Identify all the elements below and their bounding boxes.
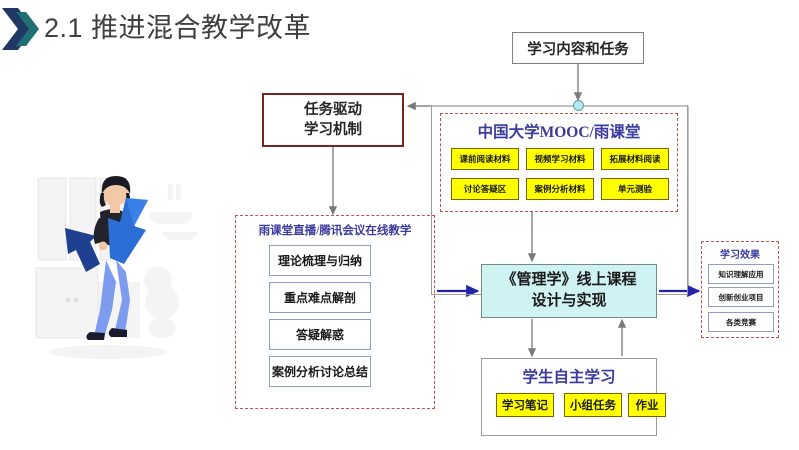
chip-innovation-projects[interactable]: 创新创业项目 <box>708 287 774 307</box>
node-label-line2: 学习机制 <box>304 120 362 140</box>
chip-video-materials[interactable]: 视频学习材料 <box>526 148 594 170</box>
chip-case-discussion-summary[interactable]: 案例分析讨论总结 <box>269 356 371 387</box>
panel-learning-outcomes: 学习效果 知识理解应用 创新创业项目 各类竞赛 <box>701 241 779 338</box>
chip-key-difficult-points[interactable]: 重点难点解剖 <box>269 282 371 313</box>
slide-canvas: 2.1 推进混合教学改革 <box>0 0 799 450</box>
node-label-line1: 《管理学》线上课程 <box>501 270 636 291</box>
panel-title-effect: 学习效果 <box>702 246 778 261</box>
panel-title-live: 雨课堂直播/腾讯会议在线教学 <box>236 222 434 238</box>
chip-question-answering[interactable]: 答疑解惑 <box>269 319 371 350</box>
slide-title-bar: 2.1 推进混合教学改革 <box>0 0 799 62</box>
chip-study-notes[interactable]: 学习笔记 <box>496 393 554 417</box>
node-label: 学习内容和任务 <box>527 38 629 59</box>
chip-extended-reading[interactable]: 拓展材料阅读 <box>601 148 669 170</box>
chip-group-task[interactable]: 小组任务 <box>564 393 622 417</box>
chip-case-analysis-materials[interactable]: 案例分析材料 <box>526 178 594 200</box>
chip-knowledge-application[interactable]: 知识理解应用 <box>708 264 774 284</box>
connector-junction-dot <box>573 100 584 111</box>
chip-unit-quiz[interactable]: 单元测验 <box>601 178 669 200</box>
panel-student-self-study: 学生自主学习 学习笔记 小组任务 作业 <box>481 358 657 436</box>
panel-title-mooc: 中国大学MOOC/雨课堂 <box>441 120 677 142</box>
node-learning-content-and-tasks[interactable]: 学习内容和任务 <box>512 32 644 64</box>
node-label-line2: 设计与实现 <box>501 291 636 312</box>
chip-pre-class-reading[interactable]: 课前阅读材料 <box>451 148 519 170</box>
node-label-group: 《管理学》线上课程 设计与实现 <box>501 270 636 312</box>
node-management-online-course[interactable]: 《管理学》线上课程 设计与实现 <box>481 264 657 318</box>
double-chevron-right-icon <box>2 6 42 52</box>
page-title: 2.1 推进混合教学改革 <box>44 8 311 48</box>
chip-homework[interactable]: 作业 <box>628 393 666 417</box>
node-label-group: 任务驱动 学习机制 <box>304 100 362 140</box>
chip-discussion-qa[interactable]: 讨论答疑区 <box>451 178 519 200</box>
chip-competitions[interactable]: 各类竞赛 <box>708 312 774 332</box>
node-label-line1: 任务驱动 <box>304 100 362 120</box>
chip-theory-review[interactable]: 理论梳理与归纳 <box>269 245 371 276</box>
panel-mooc-rain-classroom: 中国大学MOOC/雨课堂 课前阅读材料 视频学习材料 拓展材料阅读 讨论答疑区 … <box>440 113 678 212</box>
panel-live-online-teaching: 雨课堂直播/腾讯会议在线教学 理论梳理与归纳 重点难点解剖 答疑解惑 案例分析讨… <box>235 215 435 409</box>
node-task-driven-learning-mechanism[interactable]: 任务驱动 学习机制 <box>262 93 404 147</box>
panel-title-self-study: 学生自主学习 <box>482 365 656 387</box>
woman-holding-growth-arrows-illustration <box>30 160 230 440</box>
